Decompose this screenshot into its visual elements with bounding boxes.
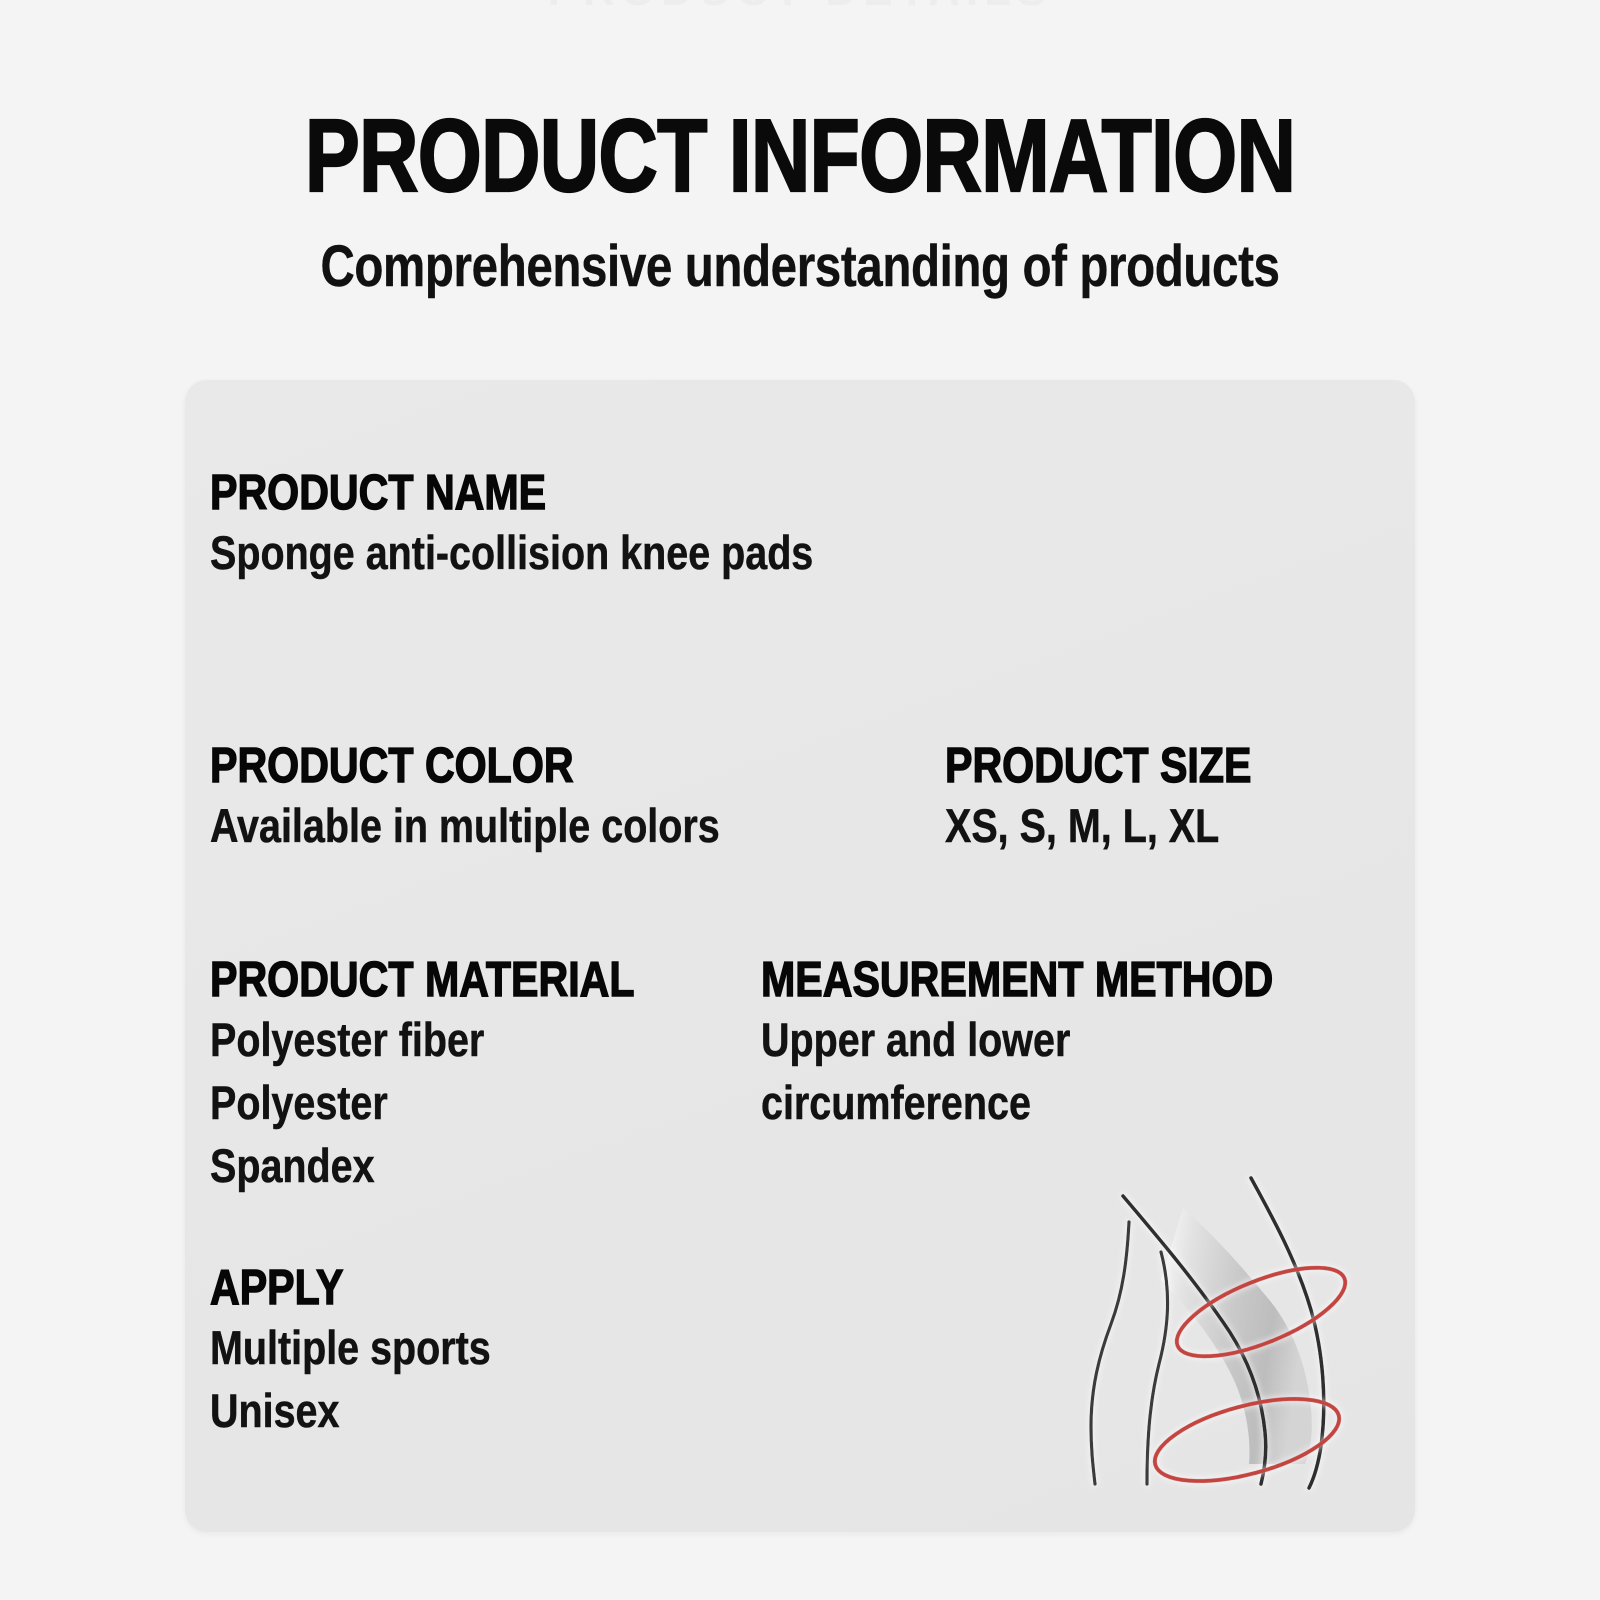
spec-value-product-size: XS, S, M, L, XL — [945, 794, 1251, 857]
spec-value-product-color: Available in multiple colors — [210, 794, 720, 857]
leg-contour-calf — [1091, 1222, 1129, 1484]
spec-product-name: PRODUCT NAME Sponge anti-collision knee … — [210, 465, 928, 584]
spec-product-color: PRODUCT COLOR Available in multiple colo… — [210, 738, 817, 857]
spec-value-line: Upper and lower — [761, 1008, 1273, 1071]
spec-value-line: Spandex — [210, 1134, 635, 1197]
spec-value-line: Multiple sports — [210, 1316, 491, 1379]
header: PRODUCT INFORMATION Comprehensive unders… — [0, 104, 1600, 297]
spec-label-product-size: PRODUCT SIZE — [945, 738, 1251, 794]
cut-off-top-text: PRODUCT DETAILS — [0, 0, 1600, 6]
spec-measurement-method: MEASUREMENT METHOD Upper and lower circu… — [761, 952, 1371, 1134]
spec-value-measurement-method: Upper and lower circumference — [761, 1008, 1273, 1134]
spec-label-measurement-method: MEASUREMENT METHOD — [761, 952, 1273, 1008]
spec-product-material: PRODUCT MATERIAL Polyester fiber Polyest… — [210, 952, 715, 1197]
spec-label-apply: APPLY — [210, 1260, 491, 1316]
spec-value-line: Polyester fiber — [210, 1008, 635, 1071]
spec-label-product-color: PRODUCT COLOR — [210, 738, 720, 794]
spec-apply: APPLY Multiple sports Unisex — [210, 1260, 544, 1442]
spec-value-apply: Multiple sports Unisex — [210, 1316, 491, 1442]
knee-measurement-diagram-icon — [1065, 1140, 1395, 1500]
spec-value-line: Polyester — [210, 1071, 635, 1134]
spec-value-line: Unisex — [210, 1379, 491, 1442]
spec-value-line: XS, S, M, L, XL — [945, 794, 1251, 857]
spec-value-line: circumference — [761, 1071, 1273, 1134]
spec-label-product-name: PRODUCT NAME — [210, 465, 813, 521]
spec-value-product-material: Polyester fiber Polyester Spandex — [210, 1008, 635, 1197]
spec-value-line: Available in multiple colors — [210, 794, 720, 857]
product-information-card: PRODUCT NAME Sponge anti-collision knee … — [185, 380, 1415, 1532]
leg-shade-shape — [1161, 1208, 1312, 1464]
spec-value-product-name: Sponge anti-collision knee pads — [210, 521, 813, 584]
page-title: PRODUCT INFORMATION — [160, 104, 1440, 207]
spec-product-size: PRODUCT SIZE XS, S, M, L, XL — [945, 738, 1310, 857]
page-subtitle: Comprehensive understanding of products — [144, 237, 1456, 297]
spec-value-line: Sponge anti-collision knee pads — [210, 521, 813, 584]
spec-label-product-material: PRODUCT MATERIAL — [210, 952, 635, 1008]
